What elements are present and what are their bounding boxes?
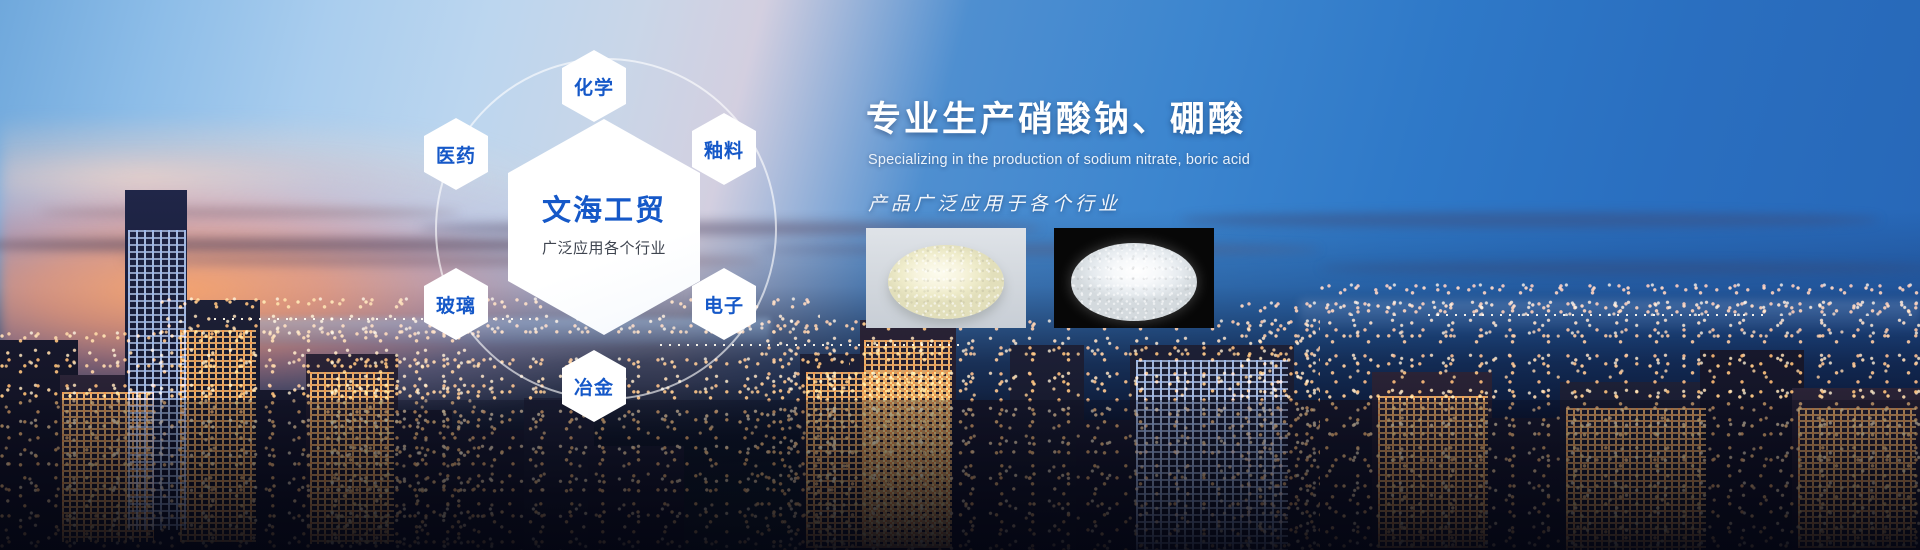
company-name: 文海工贸 — [542, 197, 666, 226]
promo-banner: 文海工贸 广泛应用各个行业 化学 釉料 电子 冶金 玻璃 医药 专业生产硝酸钠、… — [0, 0, 1920, 550]
hex-label-glaze: 釉料 — [704, 136, 744, 163]
powder-pile — [1071, 243, 1197, 321]
company-tagline: 广泛应用各个行业 — [542, 237, 666, 258]
powder-pile — [888, 245, 1004, 319]
hex-label-pharmacy: 医药 — [436, 141, 476, 168]
foreground-shadow — [0, 400, 1920, 550]
hex-label-glass: 玻璃 — [436, 291, 476, 318]
product-photo-boric-acid[interactable] — [1054, 228, 1214, 328]
powder-texture — [1071, 243, 1197, 321]
product-photo-sodium-nitrate[interactable] — [866, 228, 1026, 328]
headline: 专业生产硝酸钠、硼酸 — [866, 100, 1566, 140]
bridge-lights — [1428, 314, 1768, 316]
subheadline-english: Specializing in the production of sodium… — [868, 152, 1566, 168]
product-photo-strip — [866, 228, 1214, 328]
powder-texture — [888, 245, 1004, 319]
hex-label-metallurgy: 冶金 — [574, 373, 614, 400]
far-shore-lights — [1320, 282, 1920, 316]
subheadline-chinese: 产品广泛应用于各个行业 — [868, 189, 1566, 216]
hex-label-chemistry: 化学 — [574, 73, 614, 100]
hex-label-electronics: 电子 — [704, 291, 744, 318]
banner-copy: 专业生产硝酸钠、硼酸 Specializing in the productio… — [866, 100, 1566, 216]
